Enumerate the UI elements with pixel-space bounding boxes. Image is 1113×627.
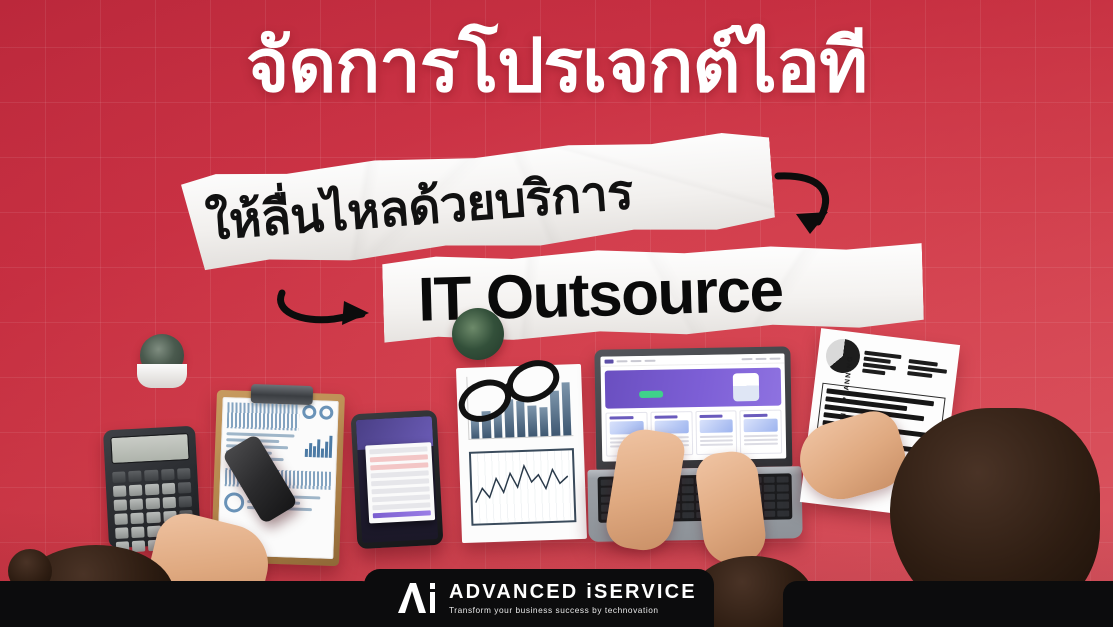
bottom-bar-left — [0, 581, 376, 627]
curved-arrow-down-icon — [770, 168, 852, 240]
eyeglasses — [453, 360, 565, 422]
logo-bar: ADVANCED iSERVICE Transform your busines… — [364, 569, 714, 627]
person-bottom-center-hand-right — [700, 452, 762, 564]
person-bottom-center-hand-left — [612, 430, 678, 550]
person-right-hand — [800, 418, 904, 496]
ai-logo-icon — [396, 582, 436, 614]
marketing-banner: จัดการโปรเจกต์ไอที ให้ลื่นไหลด้วยบริการ … — [0, 0, 1113, 627]
pinecone-decor — [140, 334, 187, 388]
line-chart — [469, 448, 577, 526]
calculator-display — [110, 433, 189, 464]
headline-line-1: จัดการโปรเจกต์ไอที — [0, 26, 1113, 106]
bottom-bar-right — [783, 581, 1113, 627]
logo-tagline: Transform your business success by techn… — [449, 606, 697, 614]
black-tablet[interactable] — [354, 412, 440, 547]
tablet-form-modal[interactable] — [365, 442, 435, 523]
clipboard-clip — [251, 384, 314, 405]
chart-document — [459, 366, 584, 541]
logo-company-name: ADVANCED iSERVICE — [449, 582, 697, 602]
curved-arrow-right-icon — [272, 283, 382, 335]
